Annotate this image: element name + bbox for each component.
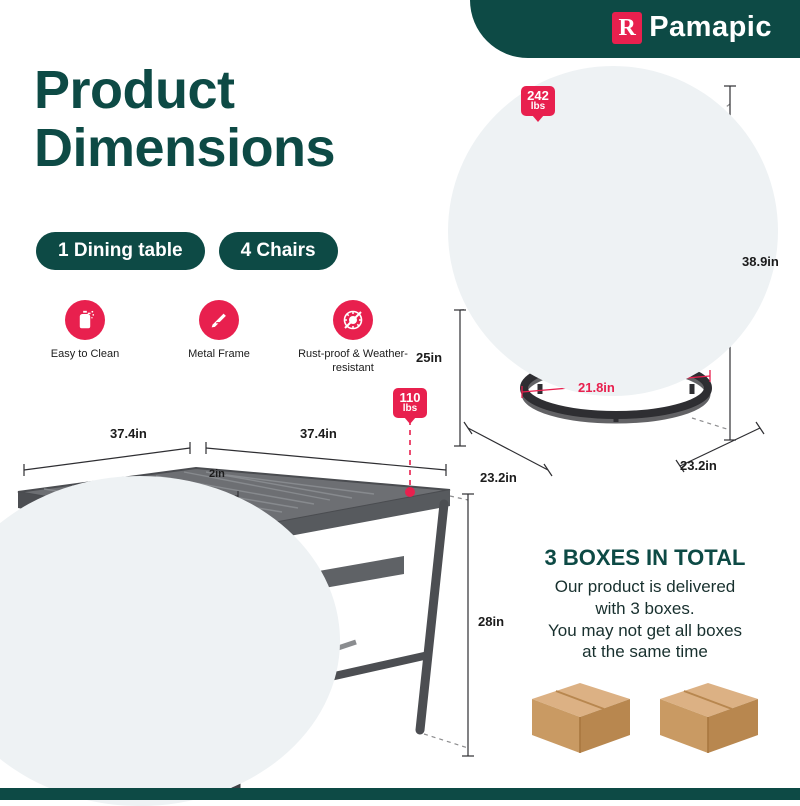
table-width-left-label: 37.4in <box>110 426 147 441</box>
brand-mark-icon: R <box>612 12 642 44</box>
feature-easy-to-clean: Easy to Clean <box>22 300 148 376</box>
feature-label-rust-proof: Rust-proof & Weather-resistant <box>290 348 416 376</box>
footer-bar <box>0 788 800 800</box>
chair-background-circle <box>448 66 778 396</box>
feature-metal-frame: Metal Frame <box>156 300 282 376</box>
table-weight-tag: 110 lbs <box>393 388 427 418</box>
page-title: Product Dimensions <box>34 62 454 178</box>
box-icon <box>528 675 634 759</box>
feature-rust-proof: Rust-proof & Weather-resistant <box>290 300 416 376</box>
pill-dining-table: 1 Dining table <box>36 232 205 270</box>
boxes-line-1: Our product is delivered <box>500 576 790 598</box>
boxes-line-2: with 3 boxes. <box>500 598 790 620</box>
boxes-line-3: You may not get all boxes <box>500 620 790 642</box>
chair-seat-width-label: 21.8in <box>578 380 615 395</box>
boxes-title: 3 BOXES IN TOTAL <box>500 545 790 571</box>
header-bar: R Pamapic <box>0 0 800 58</box>
brand-name: Pamapic <box>649 11 772 44</box>
feature-label-easy-to-clean: Easy to Clean <box>22 348 148 362</box>
title-line-2: Dimensions <box>34 120 454 178</box>
chair-height-label: 38.9in <box>742 254 779 269</box>
product-dimensions-infographic: R Pamapic Product Dimensions 1 Dining ta… <box>0 0 800 800</box>
chair-depth-right-label: 23.2in <box>680 458 717 473</box>
feature-list: Easy to Clean Metal Frame <box>22 300 422 376</box>
boxes-illustration <box>500 675 790 759</box>
rust-proof-icon <box>333 300 373 340</box>
title-line-1: Product <box>34 62 454 120</box>
chair-weight-tag: 242 lbs <box>521 86 555 116</box>
pill-chairs: 4 Chairs <box>219 232 338 270</box>
box-icon <box>656 675 762 759</box>
table-width-right-label: 37.4in <box>300 426 337 441</box>
boxes-line-4: at the same time <box>500 641 790 663</box>
chair-weight-unit: lbs <box>521 102 555 112</box>
metal-frame-icon <box>199 300 239 340</box>
table-weight-value: 110 <box>393 391 427 404</box>
table-weight-unit: lbs <box>393 404 427 414</box>
table-umbrella-hole-label: 2in <box>209 468 225 480</box>
spray-bottle-icon <box>65 300 105 340</box>
contents-pills: 1 Dining table 4 Chairs <box>36 232 338 270</box>
boxes-info: 3 BOXES IN TOTAL Our product is delivere… <box>500 545 790 759</box>
chair-seat-height-label: 25in <box>416 350 442 365</box>
brand-logo: R Pamapic <box>612 11 772 44</box>
feature-label-metal-frame: Metal Frame <box>156 348 282 362</box>
chair-weight-value: 242 <box>521 89 555 102</box>
